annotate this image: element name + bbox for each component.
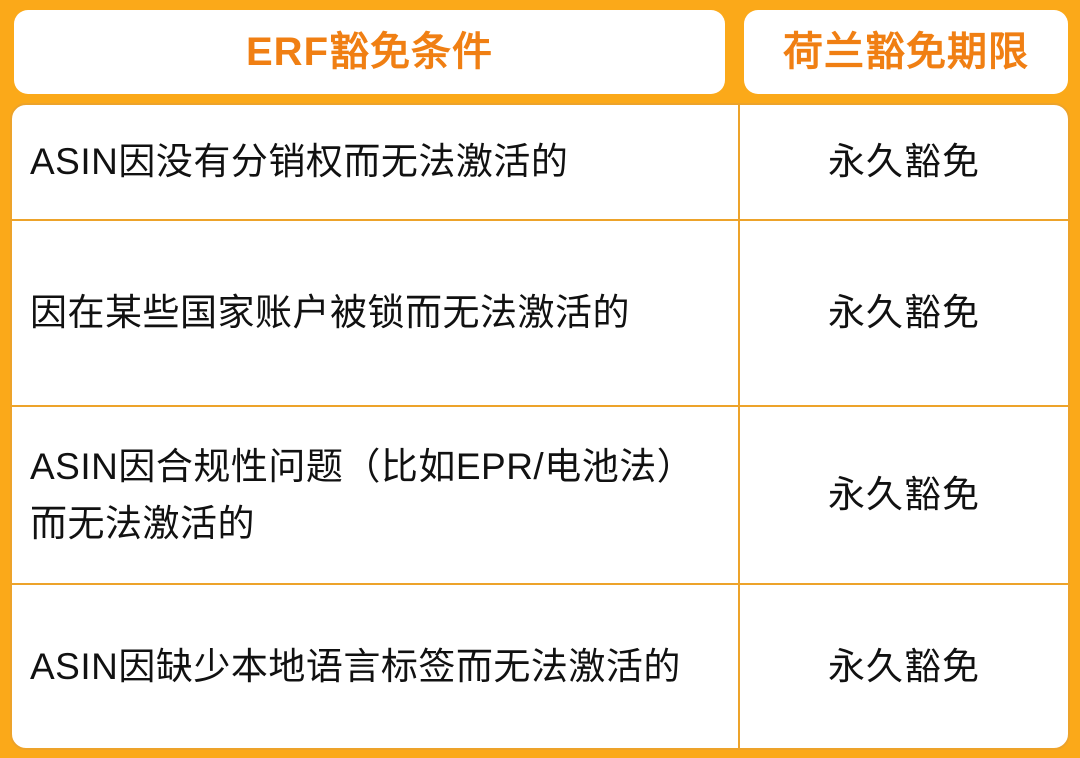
cell-term: 永久豁免	[740, 407, 1068, 583]
cell-condition: ASIN因缺少本地语言标签而无法激活的	[12, 585, 740, 748]
column-header-condition-label: ERF豁免条件	[246, 30, 493, 74]
cell-term: 永久豁免	[740, 585, 1068, 748]
exemption-table: ERF豁免条件 荷兰豁免期限 ASIN因没有分销权而无法激活的 永久豁免 因在某…	[0, 0, 1080, 758]
cell-term-text: 永久豁免	[828, 136, 980, 188]
table-row: ASIN因没有分销权而无法激活的 永久豁免	[12, 105, 1068, 221]
cell-condition-text: ASIN因缺少本地语言标签而无法激活的	[30, 638, 681, 695]
cell-condition: ASIN因没有分销权而无法激活的	[12, 105, 740, 219]
cell-condition: ASIN因合规性问题（比如EPR/电池法）而无法激活的	[12, 407, 740, 583]
column-header-term-label: 荷兰豁免期限	[783, 30, 1029, 74]
table-row: ASIN因缺少本地语言标签而无法激活的 永久豁免	[12, 585, 1068, 748]
table-body: ASIN因没有分销权而无法激活的 永久豁免 因在某些国家账户被锁而无法激活的 永…	[10, 103, 1070, 750]
cell-condition-text: ASIN因合规性问题（比如EPR/电池法）而无法激活的	[30, 438, 718, 553]
cell-term: 永久豁免	[740, 105, 1068, 219]
table-row: 因在某些国家账户被锁而无法激活的 永久豁免	[12, 221, 1068, 407]
column-header-term: 荷兰豁免期限	[744, 10, 1068, 94]
table-row: ASIN因合规性问题（比如EPR/电池法）而无法激活的 永久豁免	[12, 407, 1068, 585]
cell-term-text: 永久豁免	[828, 469, 980, 521]
cell-term-text: 永久豁免	[828, 641, 980, 693]
cell-condition-text: 因在某些国家账户被锁而无法激活的	[30, 284, 630, 341]
table-header-row: ERF豁免条件 荷兰豁免期限	[0, 0, 1080, 103]
column-header-condition: ERF豁免条件	[14, 10, 725, 94]
cell-term-text: 永久豁免	[828, 287, 980, 339]
cell-condition-text: ASIN因没有分销权而无法激活的	[30, 133, 568, 190]
cell-condition: 因在某些国家账户被锁而无法激活的	[12, 221, 740, 405]
cell-term: 永久豁免	[740, 221, 1068, 405]
